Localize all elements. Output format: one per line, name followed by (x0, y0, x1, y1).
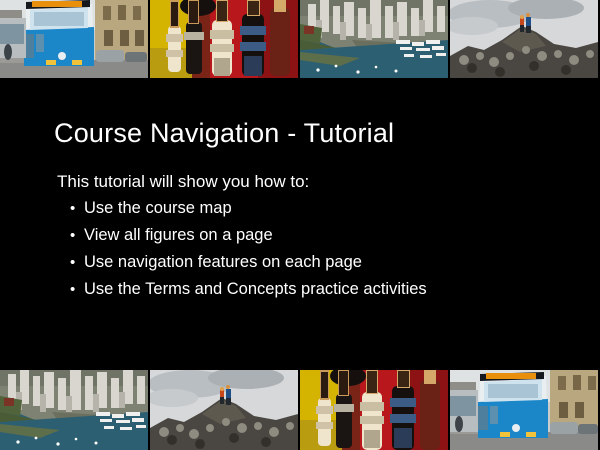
mountain-climbers-photo (450, 0, 598, 78)
harbor-city-photo (0, 370, 148, 450)
guitars-photo (300, 370, 448, 450)
list-item: • Use navigation features on each page (70, 253, 427, 280)
harbor-city-photo (300, 0, 448, 78)
tram-photo (0, 0, 148, 78)
bullet-dot-icon: • (70, 255, 84, 270)
list-item: • Use the course map (70, 199, 427, 226)
list-item: • View all figures on a page (70, 226, 427, 253)
mountain-climbers-photo (150, 370, 298, 450)
bottom-image-strip (0, 370, 600, 450)
slide-title: Course Navigation - Tutorial (54, 118, 394, 149)
bullet-dot-icon: • (70, 282, 84, 297)
tram-photo (450, 370, 598, 450)
list-item-label: Use the Terms and Concepts practice acti… (84, 280, 427, 299)
top-image-strip (0, 0, 600, 78)
list-item-label: Use navigation features on each page (84, 253, 362, 272)
intro-text: This tutorial will show you how to: (57, 172, 309, 192)
bullet-dot-icon: • (70, 228, 84, 243)
guitars-photo (150, 0, 298, 78)
bullet-dot-icon: • (70, 201, 84, 216)
presentation-slide: Course Navigation - Tutorial This tutori… (0, 0, 600, 450)
list-item-label: Use the course map (84, 199, 232, 218)
list-item: • Use the Terms and Concepts practice ac… (70, 280, 427, 307)
list-item-label: View all figures on a page (84, 226, 273, 245)
bullet-list: • Use the course map • View all figures … (70, 199, 427, 307)
